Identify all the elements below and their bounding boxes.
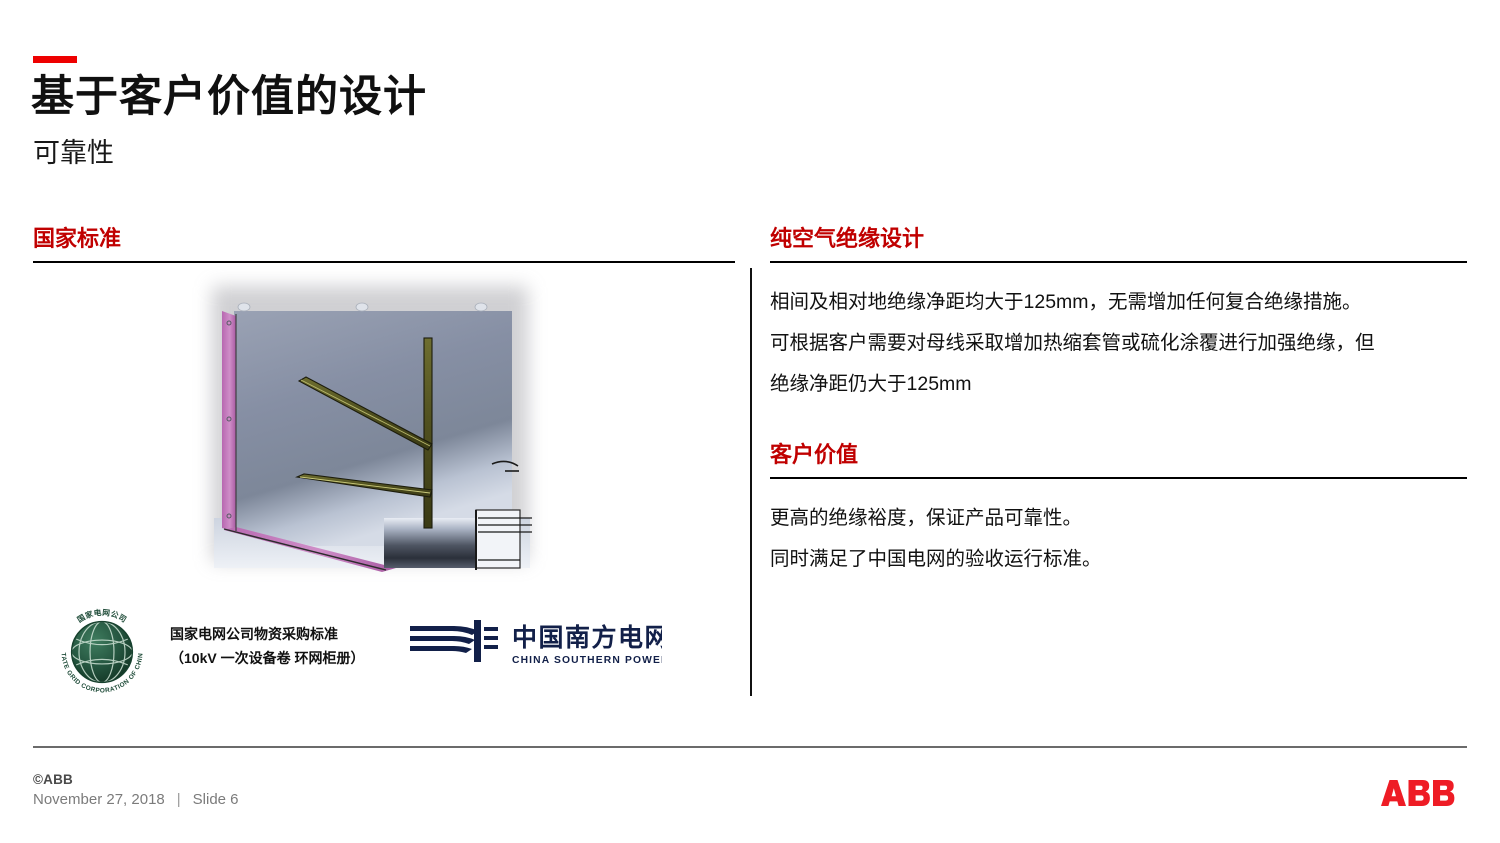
state-grid-caption: 国家电网公司物资采购标准 （10kV 一次设备卷 环网柜册）	[170, 622, 364, 670]
footer-date: November 27, 2018	[33, 791, 165, 808]
section-rule-insulation	[770, 261, 1467, 263]
copyright-text: ©ABB	[33, 772, 73, 787]
china-southern-power-grid-logo: 中国南方电网 CHINA SOUTHERN POWER GRID	[408, 614, 662, 676]
state-grid-caption-line2: （10kV 一次设备卷 环网柜册）	[170, 646, 364, 670]
page-subtitle: 可靠性	[33, 135, 114, 171]
right-section-customer-value: 客户价值 更高的绝缘裕度，保证产品可靠性。 同时满足了中国电网的验收运行标准。	[770, 441, 1467, 580]
column-divider	[750, 268, 752, 696]
body-line: 同时满足了中国电网的验收运行标准。	[770, 539, 1467, 580]
body-line: 绝缘净距仍大于125mm	[770, 364, 1467, 405]
left-section-rule	[33, 261, 735, 263]
state-grid-caption-line1: 国家电网公司物资采购标准	[170, 622, 364, 646]
body-line: 相间及相对地绝缘净距均大于125mm，无需增加任何复合绝缘措施。	[770, 282, 1467, 323]
section-title-insulation: 纯空气绝缘设计	[770, 225, 1467, 253]
page-title: 基于客户价值的设计	[31, 70, 427, 124]
title-accent-bar	[33, 56, 77, 63]
right-section-insulation: 纯空气绝缘设计 相间及相对地绝缘净距均大于125mm，无需增加任何复合绝缘措施。…	[770, 225, 1467, 405]
cad-screw-heads	[238, 303, 487, 311]
cad-metal-panel	[234, 311, 512, 546]
body-line: 更高的绝缘裕度，保证产品可靠性。	[770, 498, 1467, 539]
slide-number: Slide 6	[193, 791, 239, 808]
left-column: 国家标准	[33, 225, 735, 263]
section-title-customer-value: 客户价值	[770, 441, 1467, 469]
section-body-customer-value: 更高的绝缘裕度，保证产品可靠性。 同时满足了中国电网的验收运行标准。	[770, 498, 1467, 580]
cad-bushing-flange	[476, 510, 520, 568]
footer-meta: November 27, 2018|Slide 6	[33, 791, 239, 808]
footer-separator: |	[165, 791, 193, 808]
section-rule-customer-value	[770, 477, 1467, 479]
state-grid-logo: 国家电网公司 STATE GRID CORPORATION OF CHINA	[52, 606, 152, 698]
right-column: 纯空气绝缘设计 相间及相对地绝缘净距均大于125mm，无需增加任何复合绝缘措施。…	[770, 225, 1467, 580]
footer-divider	[33, 746, 1467, 748]
left-section-title: 国家标准	[33, 225, 735, 253]
abb-logo	[1379, 780, 1467, 806]
cspg-mark	[410, 620, 498, 662]
switchgear-cad-figure	[196, 278, 540, 576]
slide-canvas: 基于客户价值的设计 可靠性 国家标准	[0, 0, 1500, 843]
body-line: 可根据客户需要对母线采取增加热缩套管或硫化涂覆进行加强绝缘，但	[770, 323, 1467, 364]
certification-logos: 国家电网公司 STATE GRID CORPORATION OF CHINA 国…	[40, 600, 740, 700]
cspg-title-cn: 中国南方电网	[512, 623, 662, 652]
cspg-title-en: CHINA SOUTHERN POWER GRID	[512, 655, 662, 666]
cad-render-svg	[196, 278, 540, 576]
section-body-insulation: 相间及相对地绝缘净距均大于125mm，无需增加任何复合绝缘措施。 可根据客户需要…	[770, 282, 1467, 405]
